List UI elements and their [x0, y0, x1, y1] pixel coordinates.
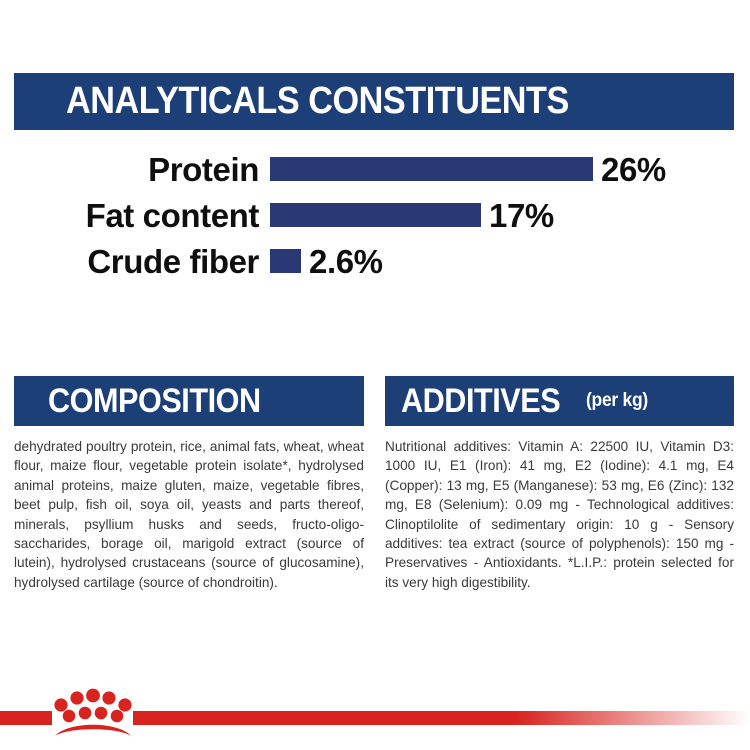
composition-body-text: dehydrated poultry protein, rice, animal…	[14, 437, 364, 592]
composition-title: COMPOSITION	[48, 382, 261, 421]
bar-value: 2.6%	[309, 245, 383, 278]
bar-label: Protein	[0, 153, 270, 186]
additives-subtitle: (per kg)	[586, 390, 648, 412]
nutrition-panel: ANALYTICALS CONSTITUENTS Protein 26% Fat…	[0, 0, 750, 750]
section-header-analyticals: ANALYTICALS CONSTITUENTS	[14, 73, 734, 130]
bar-value: 26%	[601, 153, 666, 186]
bar-fill	[270, 157, 593, 181]
additives-title: ADDITIVES	[401, 382, 560, 421]
bar-label: Fat content	[0, 199, 270, 232]
section-header-composition: COMPOSITION	[14, 376, 364, 426]
bar-fill	[270, 203, 481, 227]
section-header-additives: ADDITIVES (per kg)	[385, 376, 734, 426]
royal-canin-crown-icon	[52, 688, 134, 738]
footer-rule-left	[0, 711, 52, 725]
bar-label: Crude fiber	[0, 245, 270, 278]
bar-fill	[270, 249, 301, 273]
footer-rule-right	[133, 711, 750, 725]
chart-row: Fat content 17%	[0, 192, 750, 238]
additives-body-text: Nutritional additives: Vitamin A: 22500 …	[385, 437, 734, 592]
analyticals-bar-chart: Protein 26% Fat content 17% Crude fiber …	[0, 146, 750, 286]
chart-row: Crude fiber 2.6%	[0, 238, 750, 284]
analyticals-title: ANALYTICALS CONSTITUENTS	[66, 80, 569, 123]
bar-value: 17%	[489, 199, 554, 232]
chart-row: Protein 26%	[0, 146, 750, 192]
